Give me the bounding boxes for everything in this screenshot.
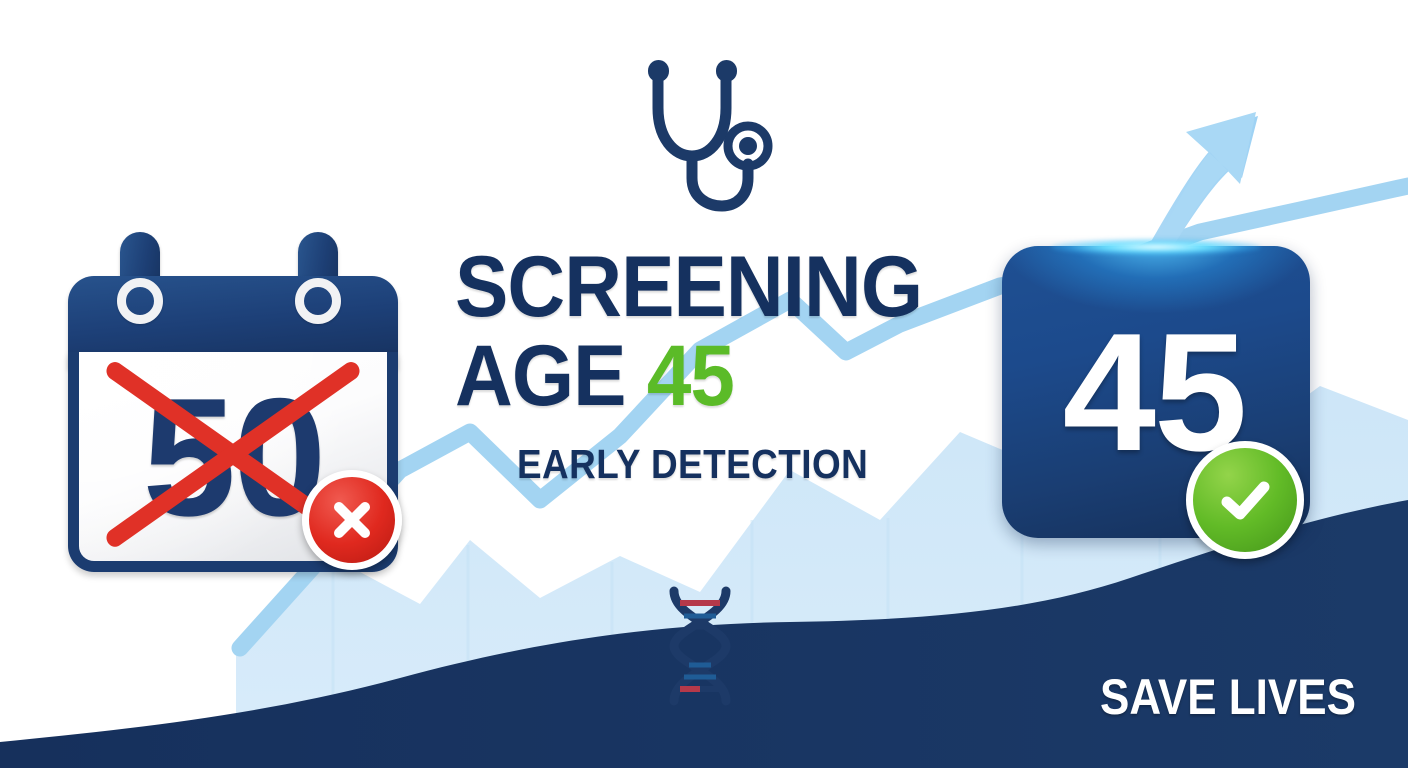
headline-line-1: SCREENING (455, 246, 920, 329)
stethoscope-icon (624, 46, 780, 222)
headline-age-label: AGE (455, 328, 626, 424)
calendar-ring-left (117, 278, 163, 324)
headline-age-number: 45 (647, 328, 734, 424)
x-icon (326, 494, 378, 546)
calendar-ring-right (295, 278, 341, 324)
headline-line-2: AGE 45 (455, 335, 920, 418)
check-icon (1214, 469, 1276, 531)
check-mark-badge (1186, 441, 1304, 559)
save-lives-text: SAVE LIVES (1100, 668, 1356, 726)
card-top-glow (1051, 239, 1261, 255)
infographic-poster: 50 45 SCREENING AGE (0, 0, 1408, 768)
dna-helix-icon (650, 583, 750, 709)
headline-subtitle: EARLY DETECTION (517, 441, 911, 488)
x-mark-badge (302, 470, 402, 570)
headline-block: SCREENING AGE 45 EARLY DETECTION (455, 246, 955, 488)
